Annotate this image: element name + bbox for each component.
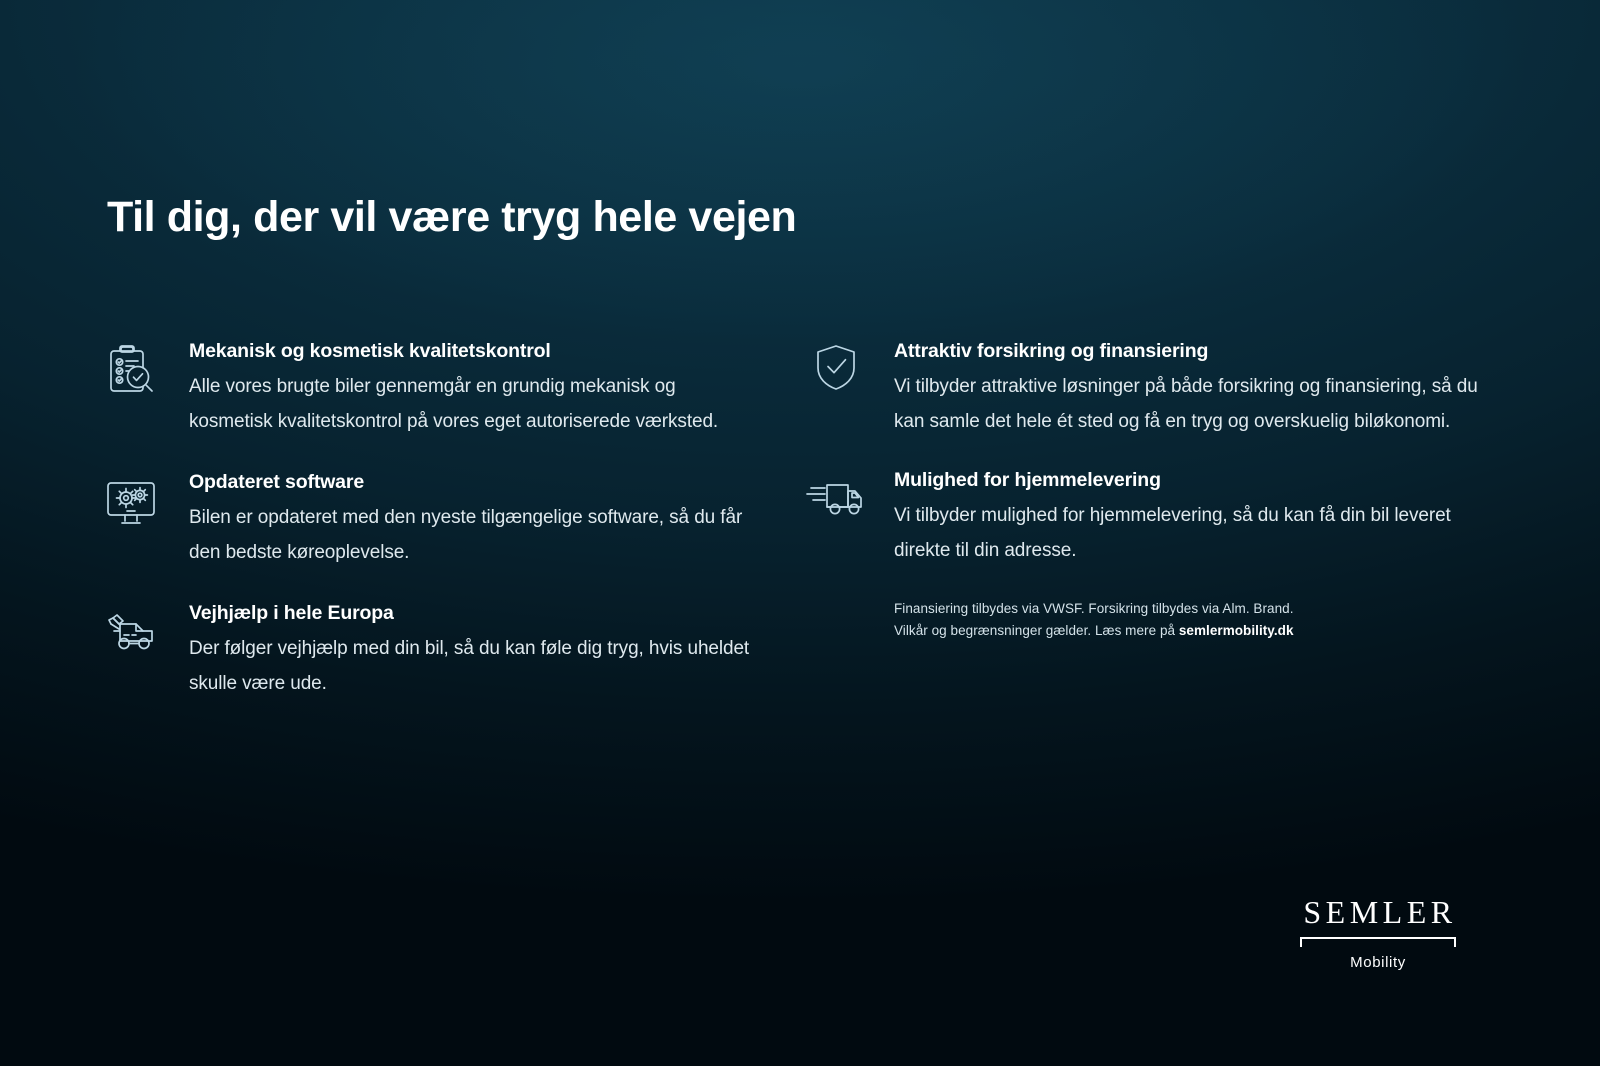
feature-text: Attraktiv forsikring og finansiering Vi … — [894, 340, 1485, 439]
monitor-gears-icon — [100, 473, 162, 531]
feature-title: Vejhjælp i hele Europa — [189, 602, 760, 625]
feature-body: Vi tilbyder mulighed for hjemmelevering,… — [894, 498, 1485, 568]
feature-text: Mulighed for hjemmelevering Vi tilbyder … — [894, 469, 1485, 568]
logo-wordmark: SEMLER — [1298, 896, 1458, 928]
tow-truck-icon — [100, 604, 162, 662]
feature-text: Mekanisk og kosmetisk kvalitetskontrol A… — [189, 340, 760, 439]
feature-body: Alle vores brugte biler gennemgår en gru… — [189, 369, 760, 439]
feature-title: Mulighed for hjemmelevering — [894, 469, 1485, 492]
feature-body: Bilen er opdateret med den nyeste tilgæn… — [189, 500, 760, 570]
logo-subtitle: Mobility — [1298, 954, 1458, 971]
feature-updated-software: Opdateret software Bilen er opdateret me… — [100, 471, 760, 570]
feature-insurance-financing: Attraktiv forsikring og finansiering Vi … — [805, 340, 1485, 439]
slide-root: Til dig, der vil være tryg hele vejen — [0, 0, 1600, 1066]
disclaimer-link[interactable]: semlermobility.dk — [1179, 623, 1294, 638]
feature-home-delivery: Mulighed for hjemmelevering Vi tilbyder … — [805, 469, 1485, 568]
feature-body: Der følger vejhjælp med din bil, så du k… — [189, 631, 760, 701]
feature-text: Opdateret software Bilen er opdateret me… — [189, 471, 760, 570]
logo-bracket-rule — [1298, 937, 1458, 948]
delivery-truck-icon — [805, 471, 867, 529]
shield-check-icon — [805, 342, 867, 400]
clipboard-check-magnifier-icon — [100, 342, 162, 400]
feature-title: Attraktiv forsikring og finansiering — [894, 340, 1485, 363]
semler-mobility-logo: SEMLER Mobility — [1298, 896, 1458, 971]
feature-title: Mekanisk og kosmetisk kvalitetskontrol — [189, 340, 760, 363]
page-title: Til dig, der vil være tryg hele vejen — [107, 193, 796, 242]
features-right-column: Attraktiv forsikring og finansiering Vi … — [805, 340, 1485, 642]
disclaimer-line-2-prefix: Vilkår og begrænsninger gælder. Læs mere… — [894, 623, 1179, 638]
disclaimer-text: Finansiering tilbydes via VWSF. Forsikri… — [894, 598, 1485, 642]
feature-text: Vejhjælp i hele Europa Der følger vejhjæ… — [189, 602, 760, 701]
feature-body: Vi tilbyder attraktive løsninger på både… — [894, 369, 1485, 439]
feature-roadside-assistance: Vejhjælp i hele Europa Der følger vejhjæ… — [100, 602, 760, 701]
feature-quality-control: Mekanisk og kosmetisk kvalitetskontrol A… — [100, 340, 760, 439]
disclaimer-line-2: Vilkår og begrænsninger gælder. Læs mere… — [894, 620, 1485, 642]
disclaimer-line-1: Finansiering tilbydes via VWSF. Forsikri… — [894, 598, 1485, 620]
feature-title: Opdateret software — [189, 471, 760, 494]
features-left-column: Mekanisk og kosmetisk kvalitetskontrol A… — [100, 340, 760, 733]
